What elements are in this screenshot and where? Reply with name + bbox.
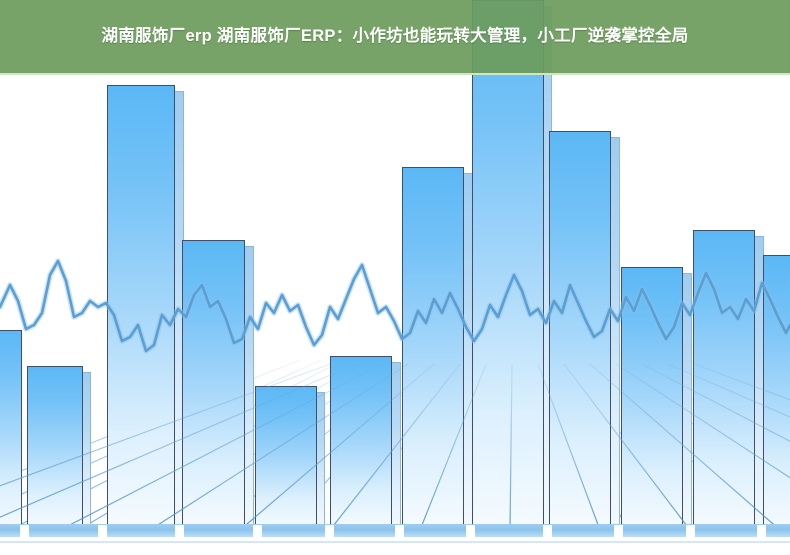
baseline-notch: [466, 525, 475, 537]
baseline-notch: [757, 525, 766, 537]
baseline-notch: [614, 525, 623, 537]
baseline-notch: [543, 525, 552, 537]
chart-canvas: [0, 0, 790, 555]
baseline-notch: [175, 525, 184, 537]
baseline-notch: [395, 525, 404, 537]
page-title: 湖南服饰厂erp 湖南服饰厂ERP：小作坊也能玩转大管理，小工厂逆袭掌控全局: [101, 24, 688, 50]
baseline-notch: [686, 525, 695, 537]
baseline-notch: [98, 525, 107, 537]
signal-line-chart: [0, 255, 790, 455]
screenshot-root: 湖南服饰厂erp 湖南服饰厂ERP：小作坊也能玩转大管理，小工厂逆袭掌控全局: [0, 0, 790, 555]
baseline-notch: [253, 525, 262, 537]
baseline-notch: [20, 525, 29, 537]
baseline-notch: [325, 525, 334, 537]
title-banner: 湖南服饰厂erp 湖南服饰厂ERP：小作坊也能玩转大管理，小工厂逆袭掌控全局: [0, 0, 790, 75]
